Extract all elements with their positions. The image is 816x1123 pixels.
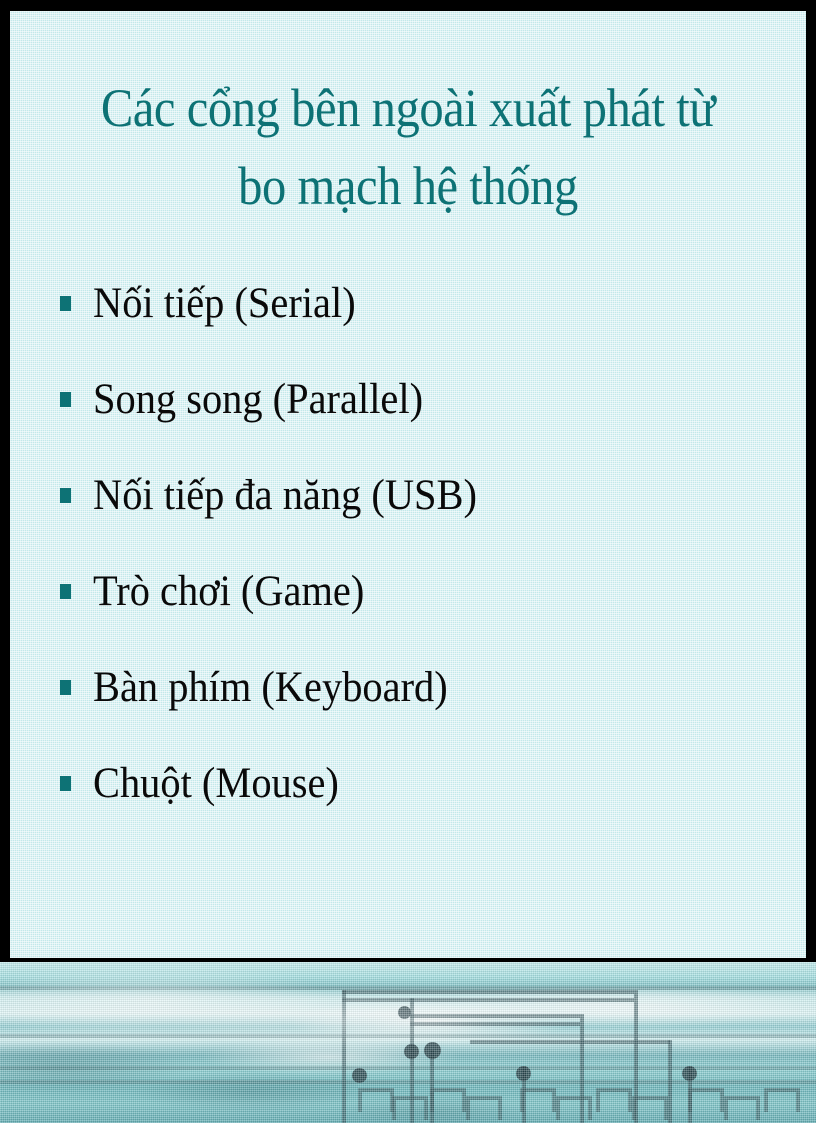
page-title: Các cổng bên ngoài xuất phát từ bo mạch …	[86, 69, 730, 225]
list-item: Trò chơi (Game)	[60, 567, 780, 663]
square-bullet-icon	[60, 392, 71, 407]
list-item: Nối tiếp đa năng (USB)	[60, 471, 780, 567]
square-bullet-icon	[60, 776, 71, 791]
list-item-label: Chuột (Mouse)	[93, 759, 339, 809]
square-bullet-icon	[60, 488, 71, 503]
bullet-list: Nối tiếp (Serial) Song song (Parallel) N…	[60, 279, 780, 855]
slide-root: Các cổng bên ngoài xuất phát từ bo mạch …	[0, 0, 816, 1123]
list-item: Chuột (Mouse)	[60, 759, 780, 855]
slide-content-panel: Các cổng bên ngoài xuất phát từ bo mạch …	[10, 11, 806, 958]
list-item-label: Trò chơi (Game)	[93, 567, 364, 617]
circuit-board-photo	[0, 962, 816, 1123]
list-item-label: Nối tiếp (Serial)	[93, 279, 356, 329]
list-item-label: Bàn phím (Keyboard)	[93, 663, 448, 713]
list-item: Song song (Parallel)	[60, 375, 780, 471]
list-item-label: Nối tiếp đa năng (USB)	[93, 471, 477, 521]
list-item: Bàn phím (Keyboard)	[60, 663, 780, 759]
list-item-label: Song song (Parallel)	[93, 375, 423, 425]
square-bullet-icon	[60, 680, 71, 695]
photo-dither-grain	[0, 962, 816, 1123]
square-bullet-icon	[60, 584, 71, 599]
square-bullet-icon	[60, 296, 71, 311]
list-item: Nối tiếp (Serial)	[60, 279, 780, 375]
